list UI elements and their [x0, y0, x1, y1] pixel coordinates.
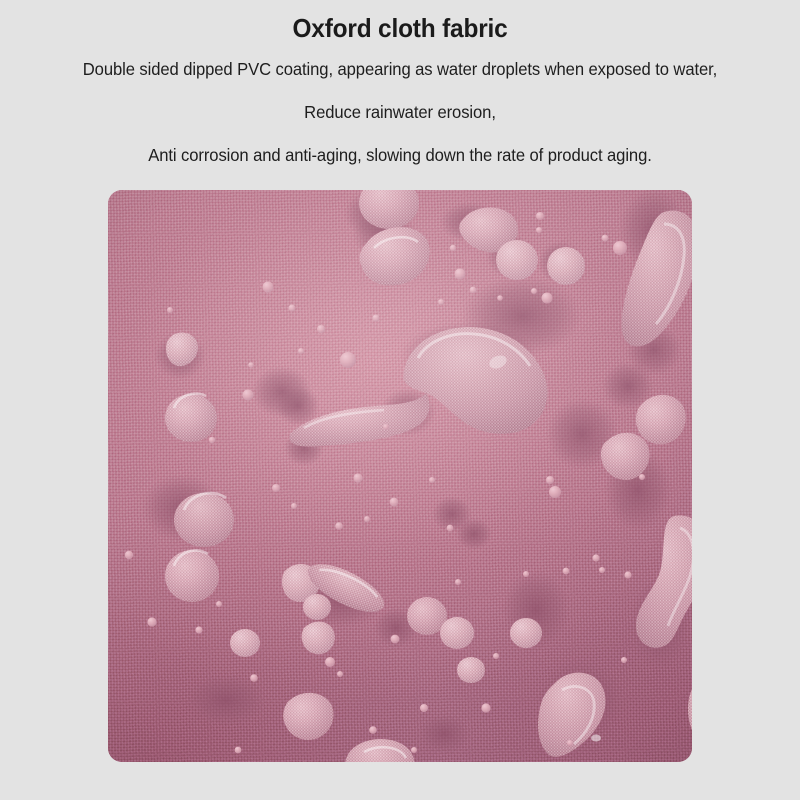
fabric-description-block: Oxford cloth fabric Double sided dipped …	[0, 0, 800, 166]
droplet-large-left-lower	[174, 493, 234, 547]
description-line-3: Anti corrosion and anti-aging, slowing d…	[20, 123, 780, 166]
droplet-medium-upper-right-b	[547, 247, 585, 285]
fabric-photo	[108, 190, 692, 762]
water-droplets	[108, 190, 692, 762]
droplet-large-left-upper	[165, 394, 217, 442]
droplet-medium-mid-c	[302, 622, 335, 655]
droplet-medium-lower-c	[457, 657, 485, 683]
page-title: Oxford cloth fabric	[24, 0, 776, 45]
droplet-large-bottom-teardrop	[345, 739, 414, 762]
droplet-large-right-bottom-edge	[688, 674, 692, 762]
droplet-medium-lower-b	[440, 617, 474, 649]
droplet-medium-upper-right-a	[496, 240, 538, 280]
droplet-medium-mid-e	[230, 629, 260, 657]
droplet-medium-lower-a	[283, 693, 333, 740]
droplet-large-left-mid	[165, 550, 219, 602]
droplet-medium-mid-b	[303, 594, 331, 620]
product-detail-page: Oxford cloth fabric Double sided dipped …	[0, 0, 800, 800]
description-line-1: Double sided dipped PVC coating, appeari…	[20, 45, 780, 80]
description-line-2: Reduce rainwater erosion,	[20, 80, 780, 123]
